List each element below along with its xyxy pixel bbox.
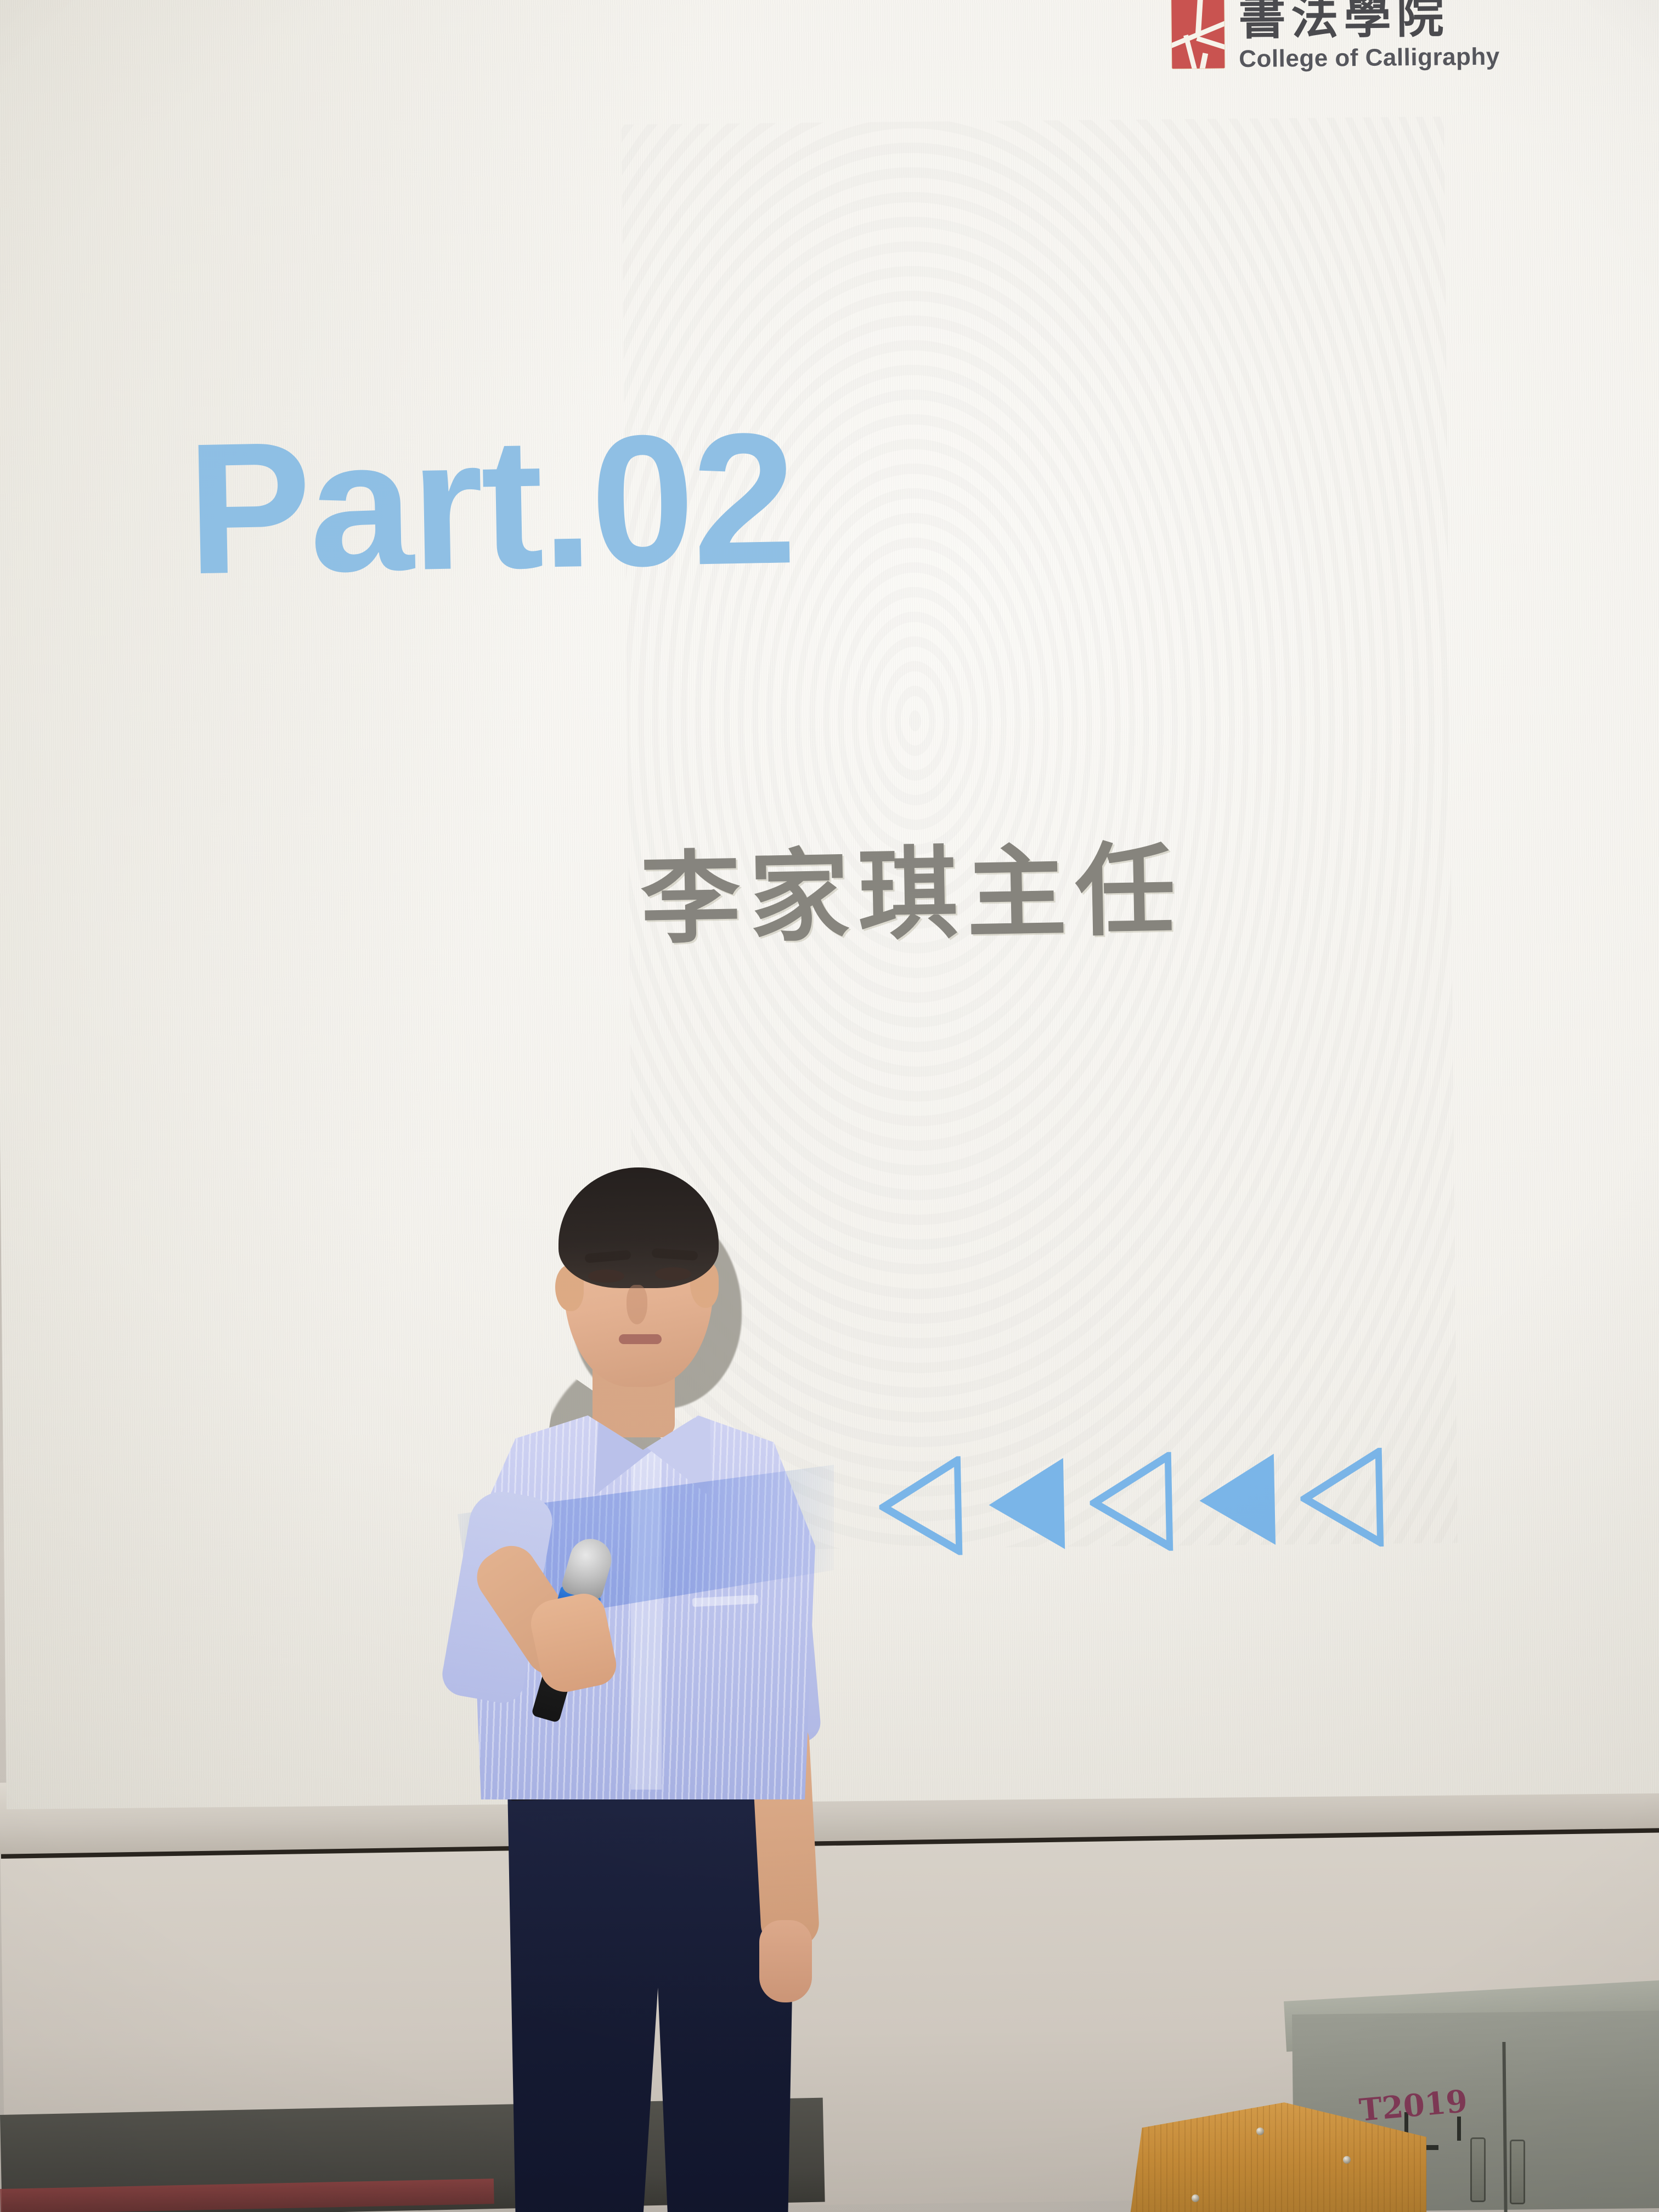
triangle-decoration-row xyxy=(878,1448,1384,1556)
triangle-left-icon xyxy=(984,1454,1068,1555)
screenshot-root: T2019 書法學院 College of Calligraphy Part.0… xyxy=(0,0,1659,2212)
presenter-eye xyxy=(655,1267,691,1280)
college-logo: 書法學院 College of Calligraphy xyxy=(1171,0,1500,72)
slide-subtitle: 李家琪主任 xyxy=(640,840,1184,950)
triangle-left-icon xyxy=(1194,1450,1279,1550)
presenter-nose xyxy=(627,1285,647,1324)
presenter-hair xyxy=(558,1167,719,1288)
cabinet-handle[interactable] xyxy=(1470,2137,1486,2202)
triangle-left-icon xyxy=(1300,1448,1384,1548)
chair-screw xyxy=(1343,2156,1351,2164)
logo-chinese-name: 書法學院 xyxy=(1238,0,1499,42)
triangle-left-icon xyxy=(878,1456,963,1556)
presenter xyxy=(428,1158,856,2212)
shirt-placket xyxy=(631,1427,662,1790)
presenter-mouth xyxy=(619,1334,662,1344)
cabinet-handle[interactable] xyxy=(1510,2140,1525,2204)
logo-english-name: College of Calligraphy xyxy=(1239,45,1500,72)
chair-screw xyxy=(1256,2128,1264,2135)
presenter-right-hand xyxy=(759,1920,812,2002)
logo-text-block: 書法學院 College of Calligraphy xyxy=(1238,0,1500,71)
seal-icon xyxy=(1171,0,1224,69)
cabinet-slot xyxy=(1457,2117,1461,2141)
slide-headline: Part.02 xyxy=(185,409,795,599)
presenter-eye xyxy=(588,1269,624,1283)
chair-screw xyxy=(1192,2194,1199,2202)
triangle-left-icon xyxy=(1089,1452,1173,1553)
